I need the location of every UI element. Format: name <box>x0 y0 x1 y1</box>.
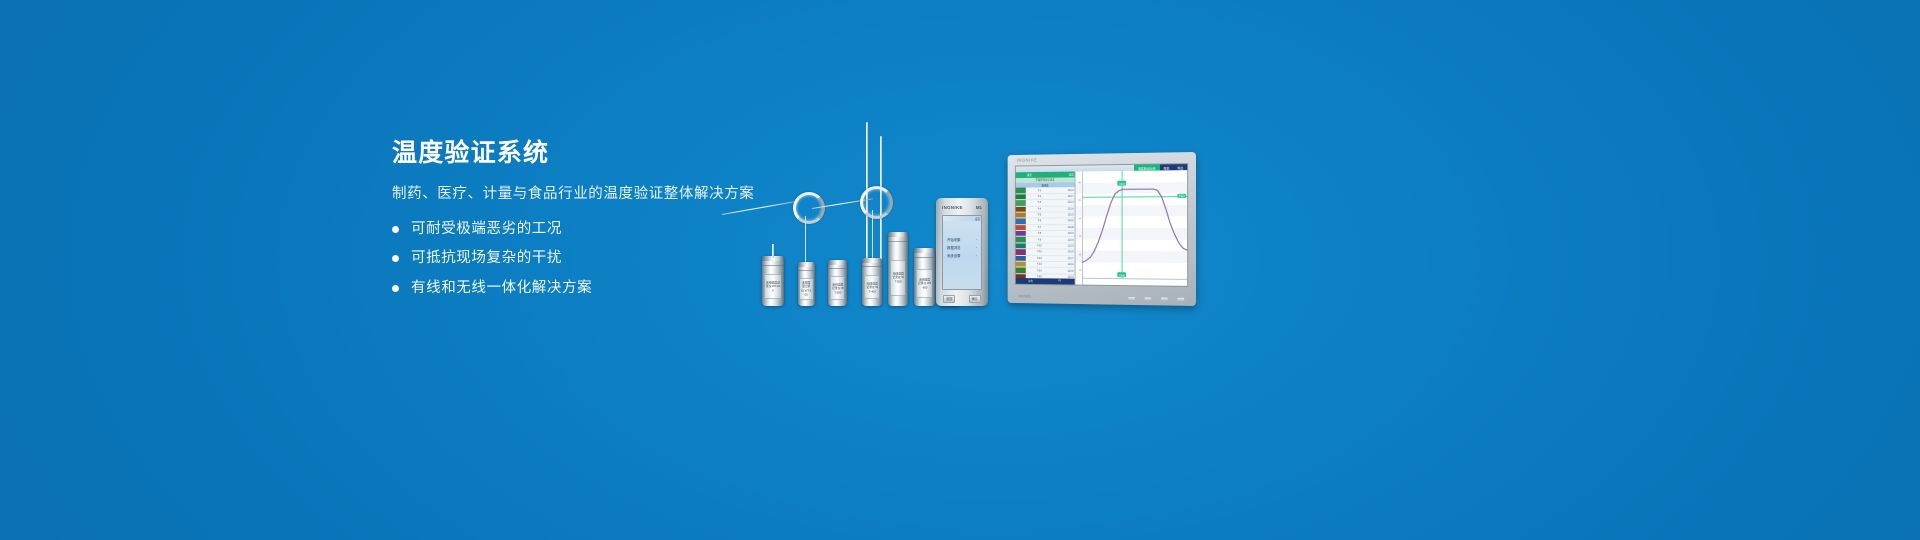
logger-label-text: 无线温度记录仪 WT-400 <box>866 281 879 293</box>
monitor-brand-label: INGNIKE <box>1017 158 1038 163</box>
channel-name: T-6 <box>1026 220 1053 223</box>
software-body: 通道 温度 灭菌柜验证记录表 通道值 T-1121.4 T-2121.7 T-3… <box>1016 170 1187 286</box>
monitor-button[interactable] <box>1145 297 1152 300</box>
handheld-confirm-button[interactable]: 确认 <box>969 295 981 303</box>
chevron-right-icon: › <box>976 245 977 249</box>
channel-value: 121.4 <box>1053 232 1075 235</box>
handheld-menu-label: 开始采集 <box>947 237 961 242</box>
col-channel: 通道 <box>1027 173 1053 177</box>
handheld-brand-bar: INGNIKE M1 <box>942 203 982 212</box>
logger-cap <box>914 248 935 253</box>
col-color <box>1017 173 1027 177</box>
channel-value: 121.8 <box>1053 226 1075 229</box>
logger-ring <box>888 241 908 242</box>
handheld-menu-item[interactable]: 开始采集 › <box>943 235 981 243</box>
y-tick-label: 30 <box>1079 270 1081 272</box>
logger-ring <box>798 270 815 271</box>
channel-table[interactable]: 通道 温度 灭菌柜验证记录表 通道值 T-1121.4 T-2121.7 T-3… <box>1016 172 1076 285</box>
bullet-dot-icon <box>392 226 399 233</box>
logger-label-text: 无线温度记录仪 WT-200 <box>801 281 812 297</box>
monitor: INGNIKE 温度验证分析 报表 导出 通道 温度 <box>1008 152 1196 306</box>
chevron-right-icon: › <box>976 237 977 241</box>
handheld-menu-item[interactable]: 数据浏览 › <box>943 243 981 251</box>
hero-banner: 温度验证系统 制药、医疗、计量与食品行业的温度验证整体解决方案 可耐受极端恶劣的… <box>0 0 1920 540</box>
table-footer: 平均 F0 <box>1016 278 1075 284</box>
channel-name: T-2 <box>1026 195 1053 198</box>
channel-value: 121.5 <box>1053 214 1075 217</box>
feature-label: 有线和无线一体化解决方案 <box>411 280 592 297</box>
channel-value: 121.3 <box>1053 201 1075 204</box>
channel-color-swatch <box>1016 213 1026 218</box>
channel-color-swatch <box>1016 249 1026 254</box>
channel-name: T-13 <box>1026 263 1053 266</box>
data-logger-3: 无线温度记录仪 WT-300 <box>828 260 847 306</box>
channel-name: T-5 <box>1026 214 1053 217</box>
feature-label: 可耐受极端恶劣的工况 <box>411 221 562 238</box>
channel-name: T-14 <box>1026 269 1053 272</box>
channel-name: T-9 <box>1026 238 1053 241</box>
y-tick-label: 70 <box>1079 236 1081 238</box>
handheld-menu: 开始采集 › 数据浏览 › 系统设置 › <box>943 221 981 259</box>
channel-color-swatch <box>1016 200 1026 205</box>
y-tick-label: 90 <box>1079 218 1081 220</box>
handheld-button-row: 返回 确认 <box>943 294 981 303</box>
channel-color-swatch <box>1016 231 1026 236</box>
chart-series-temperature <box>1082 189 1187 264</box>
channel-value: 121.6 <box>1053 207 1075 210</box>
handheld-screen[interactable]: 设置 开始采集 › 数据浏览 › 系统设置 › <box>942 215 982 290</box>
channel-value: 121.4 <box>1053 189 1075 192</box>
channel-value: 121.3 <box>1053 245 1075 248</box>
y-tick-label: 130 <box>1078 182 1081 184</box>
channel-name: T-3 <box>1026 201 1053 204</box>
handheld-menu-label: 系统设置 <box>947 253 961 258</box>
logger-label: 无线温度记录仪 WT-500 <box>891 260 905 296</box>
data-logger-1: 无线温度记录仪 WT-100 <box>762 256 784 306</box>
logger-label: 无线温度记录仪 WT-400 <box>865 275 879 299</box>
logger-ring <box>862 266 882 267</box>
product-photo-group: 无线温度记录仪 WT-100 无线温度记录仪 WT-200 无线温度记录仪 WT… <box>700 120 1220 320</box>
channel-value: 121.6 <box>1053 269 1075 272</box>
handheld-screen-title: 设置 <box>975 217 980 221</box>
channel-color-swatch <box>1016 219 1026 224</box>
chart-x-axis <box>1082 278 1187 286</box>
needle-probe-slanted-1 <box>722 200 799 215</box>
handheld-back-button[interactable]: 返回 <box>943 295 955 303</box>
logger-label: 无线温度记录仪 WT-300 <box>831 276 845 299</box>
channel-color-swatch <box>1016 243 1026 248</box>
monitor-button[interactable] <box>1161 297 1168 300</box>
monitor-button-row <box>1128 297 1184 301</box>
coil-sensor-2 <box>860 186 893 219</box>
footer-avg-label: 平均 <box>1016 278 1045 284</box>
logger-label-text: 无线温度记录仪 WT-300 <box>831 282 843 294</box>
channel-value: 121.7 <box>1053 195 1075 198</box>
handheld-model-label: M1 <box>976 205 982 210</box>
channel-value: 121.6 <box>1053 238 1075 241</box>
channel-name: T-8 <box>1026 232 1053 235</box>
channel-value: 121.5 <box>1053 251 1075 254</box>
footer-f0-label: F0 <box>1045 279 1075 285</box>
bullet-dot-icon <box>392 285 399 292</box>
logger-cap <box>888 232 908 237</box>
y-tick-label: 50 <box>1079 254 1081 256</box>
channel-color-swatch <box>1016 225 1026 230</box>
channel-color-swatch <box>1016 206 1026 211</box>
temperature-chart[interactable]: 130 110 90 70 50 30 灭菌段 灭菌段 降温段 <box>1076 170 1188 286</box>
data-logger-4: 无线温度记录仪 WT-400 <box>862 258 882 306</box>
channel-color-swatch <box>1016 188 1026 193</box>
channel-color-swatch <box>1016 237 1026 242</box>
table-rows: T-1121.4 T-2121.7 T-3121.3 T-4121.6 T-51… <box>1016 187 1075 279</box>
col-value: 温度 <box>1053 172 1074 176</box>
logger-label: 无线温度记录仪 WT-600 <box>917 269 932 298</box>
logger-label-text: 无线温度记录仪 WT-500 <box>892 272 905 284</box>
channel-value: 121.2 <box>1053 220 1075 223</box>
channel-color-swatch <box>1016 262 1026 267</box>
channel-color-swatch <box>1016 268 1026 273</box>
logger-ring <box>914 257 935 258</box>
logger-label-text: 无线温度记录仪 WT-600 <box>918 278 932 290</box>
monitor-power-button[interactable] <box>1177 298 1184 301</box>
logger-label: 无线温度记录仪 WT-200 <box>800 278 812 300</box>
logger-ring <box>762 265 784 266</box>
channel-name: T-10 <box>1026 244 1053 247</box>
data-logger-2: 无线温度记录仪 WT-200 <box>798 262 815 306</box>
channel-name: T-12 <box>1026 257 1053 260</box>
handheld-reader[interactable]: INGNIKE M1 设置 开始采集 › 数据浏览 › <box>936 198 988 306</box>
monitor-button[interactable] <box>1128 297 1135 300</box>
logger-ring <box>828 268 847 269</box>
channel-name: T-4 <box>1026 207 1053 210</box>
bullet-dot-icon <box>392 255 399 262</box>
channel-name: T-1 <box>1026 189 1053 192</box>
chevron-right-icon: › <box>976 253 977 257</box>
logger-cap <box>862 258 882 263</box>
logger-cap <box>798 262 815 267</box>
feature-label: 可抵抗现场复杂的干扰 <box>411 250 562 267</box>
handheld-menu-label: 数据浏览 <box>947 245 961 250</box>
handheld-brand-label: INGNIKE <box>942 205 963 210</box>
y-tick-label: 110 <box>1078 200 1081 202</box>
channel-color-swatch <box>1016 256 1026 261</box>
monitor-screen[interactable]: 温度验证分析 报表 导出 通道 温度 灭菌柜验证记录表 通道值 <box>1015 163 1188 287</box>
data-logger-6: 无线温度记录仪 WT-600 <box>914 248 935 306</box>
monitor-bottom-brand: INGNIKE <box>1019 294 1032 298</box>
channel-value: 121.7 <box>1053 257 1075 260</box>
logger-stem-1 <box>772 244 774 258</box>
logger-label: 无线温度记录仪 WT-100 <box>765 274 781 299</box>
channel-color-swatch <box>1016 194 1026 199</box>
logger-label-text: 无线温度记录仪 WT-100 <box>766 281 780 293</box>
logger-cap <box>828 260 847 265</box>
handheld-menu-item[interactable]: 系统设置 › <box>943 251 981 259</box>
chart-curve <box>1082 170 1187 280</box>
channel-name: T-11 <box>1026 251 1053 254</box>
channel-value: 121.4 <box>1053 263 1075 266</box>
data-logger-5: 无线温度记录仪 WT-500 <box>888 232 908 306</box>
channel-name: T-7 <box>1026 226 1053 229</box>
